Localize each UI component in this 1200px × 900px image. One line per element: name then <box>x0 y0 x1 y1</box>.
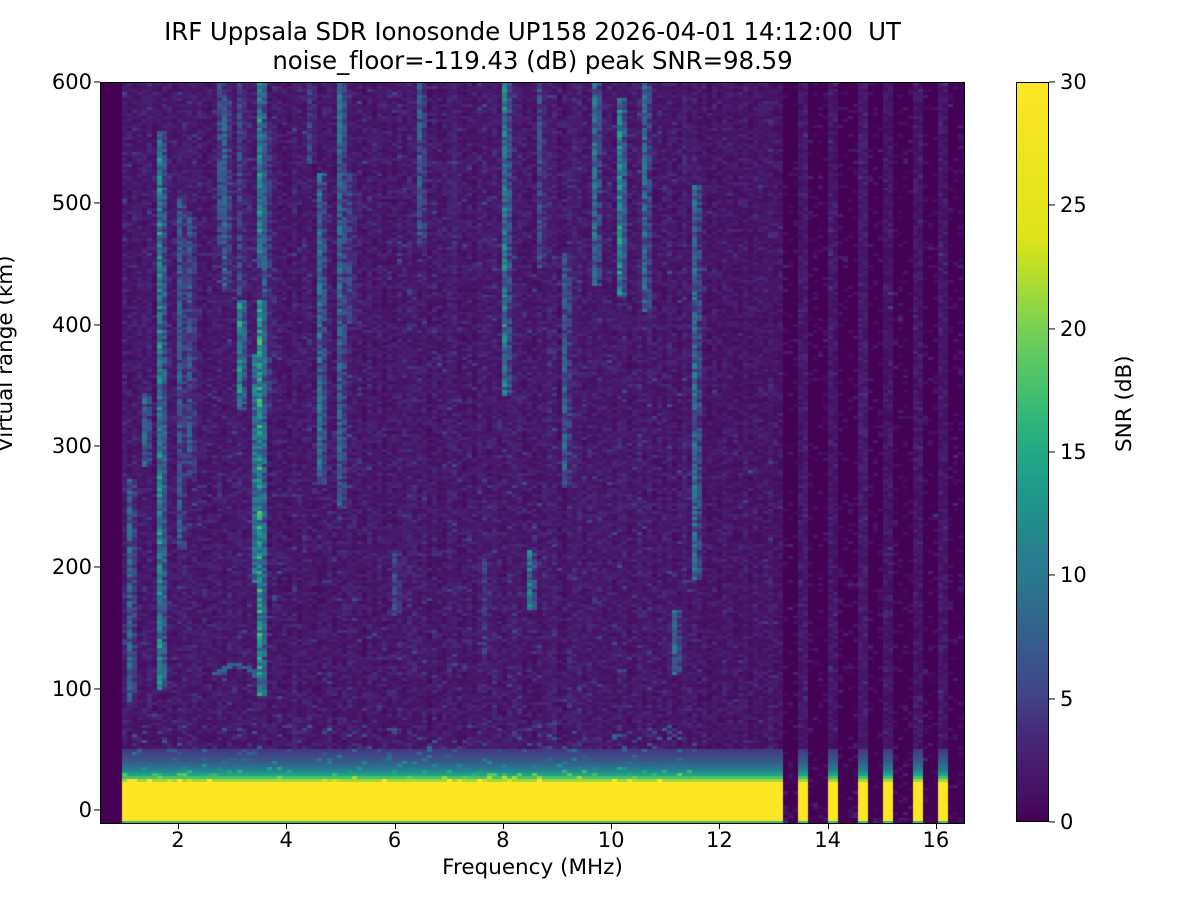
colorbar-tick-label: 15 <box>1060 440 1087 464</box>
colorbar-tick-mark <box>1049 328 1055 329</box>
y-tick-label: 300 <box>2 434 92 458</box>
x-tick-label: 8 <box>496 828 509 852</box>
x-tick-mark <box>178 823 179 829</box>
x-tick-label: 16 <box>923 828 950 852</box>
colorbar-tick-label: 20 <box>1060 317 1087 341</box>
x-tick-label: 2 <box>171 828 184 852</box>
y-tick-mark <box>94 809 100 810</box>
x-tick-mark <box>936 823 937 829</box>
x-tick-mark <box>395 823 396 829</box>
colorbar[interactable]: 051015202530 <box>1016 82 1049 822</box>
colorbar-tick-mark <box>1049 451 1055 452</box>
x-tick-mark <box>828 823 829 829</box>
y-tick-label: 600 <box>2 70 92 94</box>
colorbar-label: SNR (dB) <box>1112 355 1137 452</box>
colorbar-tick-mark <box>1049 205 1055 206</box>
y-tick-label: 400 <box>2 313 92 337</box>
colorbar-tick-label: 0 <box>1060 810 1073 834</box>
y-axis-label: Virtual range (km) <box>0 255 18 452</box>
colorbar-tick-label: 30 <box>1060 70 1087 94</box>
x-tick-mark <box>611 823 612 829</box>
y-tick-mark <box>94 445 100 446</box>
x-tick-label: 4 <box>280 828 293 852</box>
y-tick-mark <box>94 203 100 204</box>
ionogram-heatmap[interactable] <box>101 83 964 823</box>
colorbar-tick-mark <box>1049 575 1055 576</box>
y-tick-mark <box>94 81 100 82</box>
y-tick-mark <box>94 688 100 689</box>
ionogram-axes[interactable] <box>100 82 965 824</box>
colorbar-tick-mark <box>1049 698 1055 699</box>
x-tick-mark <box>503 823 504 829</box>
colorbar-tick-label: 25 <box>1060 193 1087 217</box>
y-tick-mark <box>94 324 100 325</box>
x-tick-label: 14 <box>814 828 841 852</box>
figure-title: IRF Uppsala SDR Ionosonde UP158 2026-04-… <box>0 18 1065 76</box>
x-tick-mark <box>719 823 720 829</box>
y-tick-label: 500 <box>2 191 92 215</box>
x-tick-label: 6 <box>388 828 401 852</box>
title-line-2: noise_floor=-119.43 (dB) peak SNR=98.59 <box>0 47 1065 76</box>
colorbar-tick-mark <box>1049 81 1055 82</box>
x-tick-mark <box>286 823 287 829</box>
colorbar-tick-mark <box>1049 821 1055 822</box>
colorbar-tick-label: 10 <box>1060 563 1087 587</box>
x-tick-label: 10 <box>598 828 625 852</box>
colorbar-tick-label: 5 <box>1060 687 1073 711</box>
x-axis-label: Frequency (MHz) <box>0 855 1065 880</box>
x-tick-label: 12 <box>706 828 733 852</box>
y-tick-label: 0 <box>2 798 92 822</box>
colorbar-gradient <box>1016 82 1049 822</box>
ionogram-figure: IRF Uppsala SDR Ionosonde UP158 2026-04-… <box>0 0 1200 900</box>
y-tick-label: 200 <box>2 555 92 579</box>
y-tick-mark <box>94 567 100 568</box>
y-tick-label: 100 <box>2 677 92 701</box>
title-line-1: IRF Uppsala SDR Ionosonde UP158 2026-04-… <box>0 18 1065 47</box>
